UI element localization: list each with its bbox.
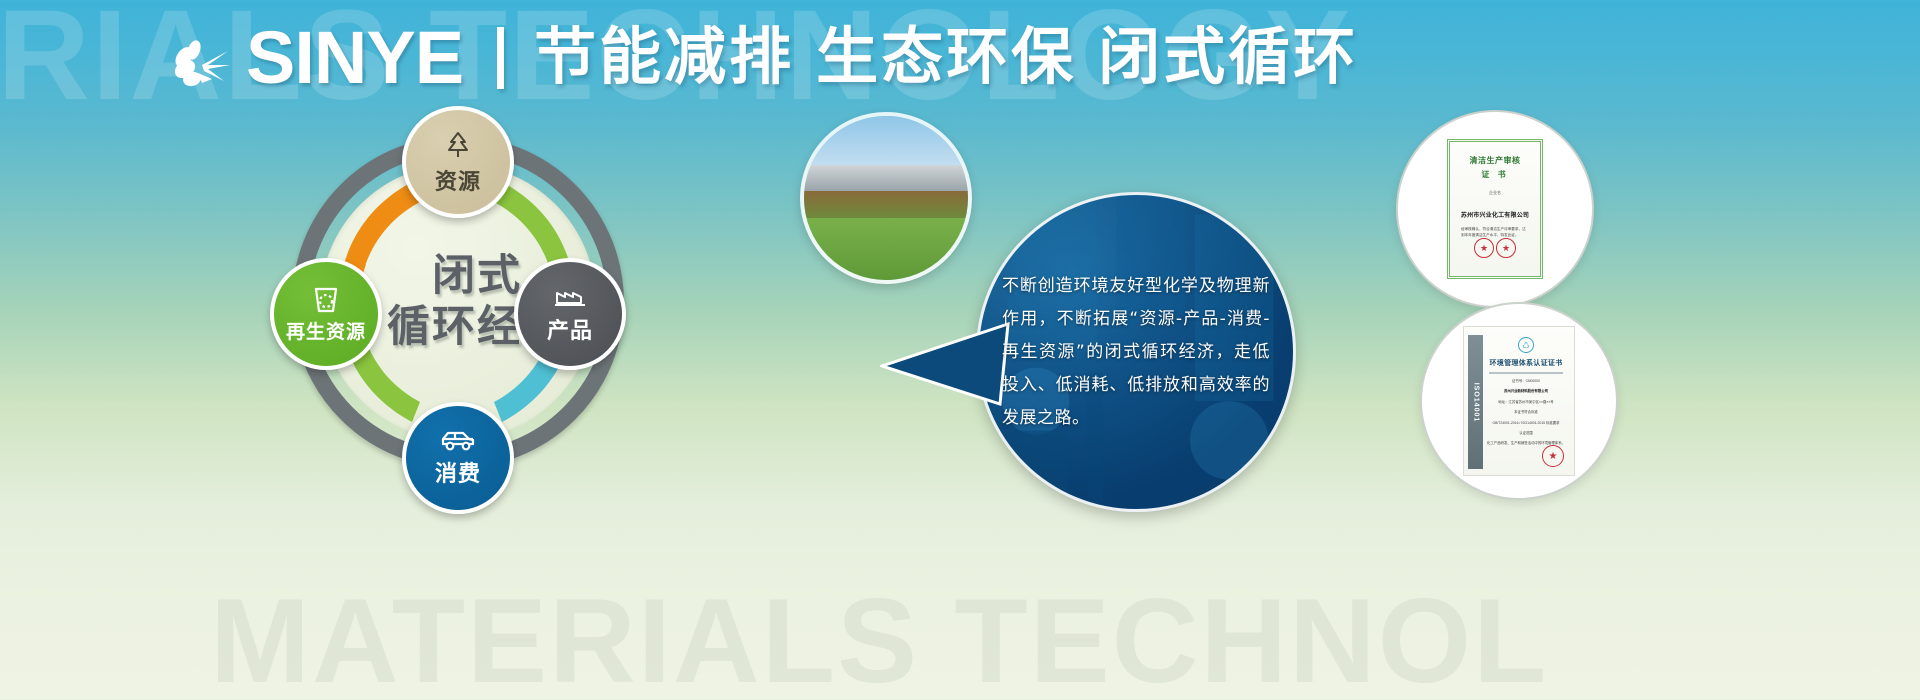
certificate-clean-production[interactable]: 清洁生产审核 证 书 企业名 苏州市兴业化工有限公司 经审核确认，符合清洁生产评… xyxy=(1396,110,1594,308)
certificate-1-paper: 清洁生产审核 证 书 企业名 苏州市兴业化工有限公司 经审核确认，符合清洁生产评… xyxy=(1447,139,1543,279)
node-label-resource: 资源 xyxy=(435,164,481,196)
certificate-2-company: 苏州兴业新材料股份有限公司 xyxy=(1483,389,1569,394)
center-line-1: 闭式 xyxy=(432,251,522,301)
certificate-2-standard: GB/T24001-2016 / ISO14001:2015 标准要求 xyxy=(1483,421,1569,426)
diagram-node-consume[interactable]: 消费 xyxy=(402,402,514,514)
certificate-iso14001[interactable]: ISO14001 ♺ 环境管理体系认证证书 证书号：CN00000 苏州兴业新材… xyxy=(1420,302,1618,500)
leaf-splash-icon xyxy=(168,21,242,95)
factory-icon xyxy=(553,283,587,311)
slogan-part-1: 节能减排 xyxy=(534,23,794,92)
certificate-1-subtitle: 证 书 xyxy=(1481,169,1508,180)
certificate-2-title: 环境管理体系认证证书 xyxy=(1490,358,1563,368)
certificate-2-paper: ISO14001 ♺ 环境管理体系认证证书 证书号：CN00000 苏州兴业新材… xyxy=(1463,326,1575,476)
bubble-tail xyxy=(880,318,1010,408)
certificate-1-company-label: 企业名 xyxy=(1489,190,1501,196)
photo-building-region xyxy=(804,165,968,191)
slogan-part-2: 生态环保 xyxy=(816,23,1076,92)
node-label-consume: 消费 xyxy=(435,456,481,488)
diagram-node-recycle[interactable]: 再生资源 xyxy=(270,258,382,370)
certificate-2-spine: ISO14001 xyxy=(1468,335,1483,469)
recycle-logo-icon: ♺ xyxy=(1518,337,1534,353)
factory-campus-photo xyxy=(800,112,972,284)
closed-loop-diagram: 闭式 循环经济 资源 产品 消费 xyxy=(262,106,654,498)
seal-icon: ★ xyxy=(1496,238,1516,258)
node-label-product: 产品 xyxy=(547,313,593,345)
photo-shrub-region xyxy=(804,191,968,217)
certificate-2-reg: 证书号：CN00000 xyxy=(1483,379,1569,384)
certificate-1-company: 苏州市兴业化工有限公司 xyxy=(1461,210,1529,219)
certificate-1-body: 经审核确认，符合清洁生产评审要求，达到本年度清洁生产水平，特发此证。 xyxy=(1456,226,1534,238)
node-label-recycle: 再生资源 xyxy=(286,317,366,344)
statement-bubble: 不断创造环境友好型化学及物理新作用，不断拓展“资源-产品-消费-再生资源”的闭式… xyxy=(976,192,1296,512)
recycle-bin-icon xyxy=(310,285,342,315)
certificate-2-scope-label: 认证范围 xyxy=(1483,431,1569,436)
certificate-2-spine-text: ISO14001 xyxy=(1472,382,1479,422)
certificate-2-standard-label: 本证书符合标准 xyxy=(1483,410,1569,415)
seal-icon: ★ xyxy=(1542,445,1564,467)
diagram-node-product[interactable]: 产品 xyxy=(514,258,626,370)
seal-icon: ★ xyxy=(1474,238,1494,258)
certificate-2-rule xyxy=(1489,372,1563,374)
slogan-part-3: 闭式循环 xyxy=(1098,23,1358,92)
header-divider xyxy=(497,27,504,89)
certificate-1-seals: ★ ★ xyxy=(1474,238,1516,258)
photo-lawn-region xyxy=(804,218,968,280)
page-header: SINYE 节能减排生态环保闭式循环 xyxy=(168,16,1358,100)
diagram-node-resource[interactable]: 资源 xyxy=(402,106,514,218)
certificate-2-address: 地址：江苏省苏州市吴中区××路××号 xyxy=(1483,400,1569,405)
watermark-bottom: MATERIALS TECHNOL xyxy=(210,572,1548,700)
tree-icon xyxy=(441,128,475,162)
certificate-1-title: 清洁生产审核 xyxy=(1470,155,1521,166)
car-icon xyxy=(439,428,477,454)
bubble-statement-text: 不断创造环境友好型化学及物理新作用，不断拓展“资源-产品-消费-再生资源”的闭式… xyxy=(1002,270,1270,435)
brand-wordmark: SINYE xyxy=(246,21,463,95)
page-title: 节能减排生态环保闭式循环 xyxy=(534,22,1358,94)
